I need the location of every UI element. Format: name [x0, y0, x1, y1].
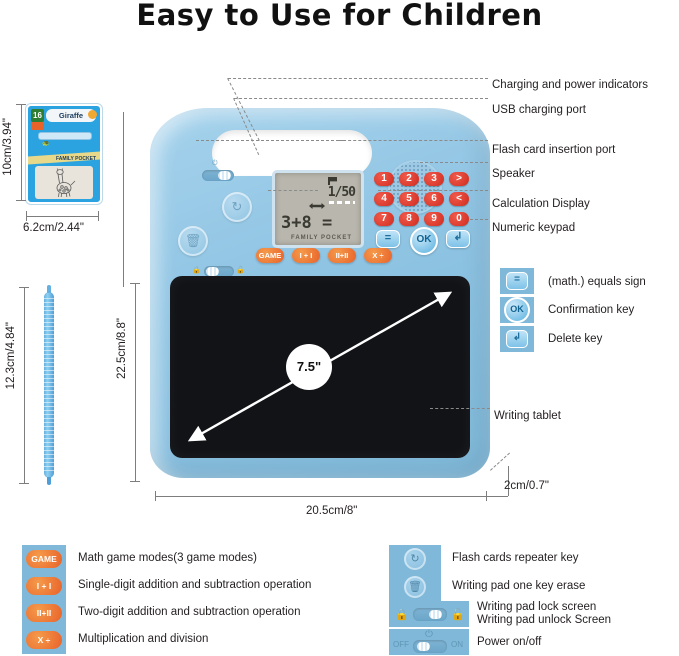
- multiply-divide-button-icon: X ÷: [26, 631, 62, 649]
- legend-ok-tile: OK: [500, 297, 534, 323]
- stylus-length-rule: [24, 287, 25, 483]
- delete-key-icon: ↲: [506, 330, 528, 348]
- power-symbol-icon: ⏻: [212, 160, 218, 168]
- power-slider-legend-knob: [417, 642, 430, 651]
- callout-leader-5b: [268, 190, 318, 191]
- callout-charging-indicators: Charging and power indicators: [492, 79, 648, 91]
- display-brand: FAMILY POCKET: [291, 235, 352, 241]
- stylus-length-label: 12.3cm/4.84": [5, 322, 17, 389]
- legend-two-digit-label: Two-digit addition and subtraction opera…: [78, 606, 300, 618]
- display-flag-icon: [328, 177, 337, 185]
- lock-open-icon: 🔓: [236, 266, 245, 274]
- display-equation: 3+8 =: [281, 213, 332, 233]
- legend-lock-label-1: Writing pad lock screen: [477, 601, 596, 614]
- callout-writing-tablet: Writing tablet: [494, 410, 561, 422]
- callout-speaker: Speaker: [492, 168, 535, 180]
- delete-key[interactable]: ↲: [446, 230, 470, 248]
- giraffe-step-1-icon: 🐢: [42, 140, 49, 147]
- legend-game-label: Math game modes(3 game modes): [78, 552, 257, 564]
- carry-handle-hole: [220, 137, 364, 169]
- flash-card-strip: [38, 132, 92, 140]
- legend-two-digit-tile: II+II: [22, 599, 66, 627]
- lock-closed-icon: 🔒: [192, 266, 201, 274]
- stylus-pen: [44, 292, 54, 478]
- legend-power-label: Power on/off: [477, 636, 541, 648]
- callout-leader-2: [234, 98, 488, 99]
- key-1[interactable]: 1: [374, 172, 394, 186]
- callout-leader-4: [420, 162, 488, 163]
- flash-card-brand: FAMILY POCKET: [56, 156, 96, 162]
- flash-card: 16 Giraffe FAMILY POCKET 🐢: [26, 104, 102, 204]
- lock-open-icon-legend: 🔓: [451, 608, 465, 621]
- device-height-tick-top: [130, 283, 140, 284]
- two-digit-button-icon: II+II: [26, 604, 62, 622]
- stylus-grip-ribs: [44, 298, 54, 472]
- callout-numeric-keypad: Numeric keypad: [492, 222, 575, 234]
- flash-card-number-underbar: [31, 122, 44, 130]
- tablet-callout-leader: [430, 408, 490, 409]
- lock-closed-icon-legend: 🔒: [395, 608, 409, 621]
- power-on-label: ON: [451, 640, 463, 649]
- flash-card-number: 16: [31, 109, 44, 122]
- display-segment-bar: [329, 201, 355, 204]
- calculation-display: 1/50 3+8 = FAMILY POCKET: [272, 170, 364, 248]
- writing-surface[interactable]: 7.5": [170, 276, 470, 458]
- card-width-tick-right: [98, 211, 99, 221]
- key-4[interactable]: 4: [374, 192, 394, 206]
- erase-key[interactable]: 🗑: [178, 226, 208, 256]
- lock-slider-legend-knob: [429, 610, 442, 619]
- device-height-tick-bottom: [130, 481, 140, 482]
- power-slider-legend: [413, 640, 447, 653]
- legend-equals-tile: =: [500, 268, 534, 294]
- writing-tablet-device: 1/50 3+8 = FAMILY POCKET 1 2 3 > 4 5 6 <…: [150, 108, 490, 478]
- key-right-arrow[interactable]: >: [449, 172, 469, 186]
- game-mode-button[interactable]: GAME: [256, 248, 284, 263]
- screen-size-badge: 7.5": [286, 344, 332, 390]
- device-height-rule: [135, 283, 136, 481]
- legend-delete-label: Delete key: [548, 333, 602, 345]
- power-off-label: OFF: [393, 640, 409, 649]
- legend-repeat-tile: ↻: [389, 545, 441, 573]
- callout-leader-3b: [196, 140, 344, 141]
- page-title: Easy to Use for Children: [0, 0, 679, 32]
- device-width-tick-left: [155, 491, 156, 501]
- card-height-label: 10cm/3.94": [2, 118, 14, 176]
- legend-lock-label-2: Writing pad unlock Screen: [477, 614, 611, 627]
- power-symbol-icon-legend: ⏻: [425, 629, 433, 640]
- legend-ok-label: Confirmation key: [548, 304, 634, 316]
- card-height-rule: [21, 104, 22, 200]
- key-9[interactable]: 9: [424, 212, 444, 226]
- lock-slider-legend: [413, 608, 447, 621]
- callout-leader-1: [228, 78, 488, 79]
- two-digit-mode-button[interactable]: II+II: [328, 248, 356, 263]
- device-height-label: 22.5cm/8.8": [116, 318, 128, 379]
- power-slider-knob[interactable]: [218, 171, 231, 180]
- card-width-label: 6.2cm/2.44": [23, 222, 84, 234]
- legend-erase-label: Writing pad one key erase: [452, 580, 585, 592]
- multiply-divide-mode-button[interactable]: X ÷: [364, 248, 392, 263]
- callout-flash-card-port: Flash card insertion port: [492, 144, 615, 156]
- single-digit-mode-button[interactable]: I + I: [292, 248, 320, 263]
- key-3[interactable]: 3: [424, 172, 444, 186]
- key-8[interactable]: 8: [399, 212, 419, 226]
- stylus-tick-bottom: [19, 483, 29, 484]
- legend-equals-label: (math.) equals sign: [548, 276, 646, 288]
- stylus-end-icon: [47, 477, 51, 485]
- device-depth-leader: [490, 453, 510, 471]
- device-height-extension: [123, 112, 124, 287]
- ok-key[interactable]: OK: [410, 227, 438, 255]
- callout-leader-3: [338, 140, 488, 141]
- device-width-label: 20.5cm/8": [306, 505, 357, 517]
- legend-lock-tile: 🔒 🔓: [389, 601, 469, 627]
- key-6[interactable]: 6: [424, 192, 444, 206]
- card-height-tick-bottom: [16, 200, 26, 201]
- legend-delete-tile: ↲: [500, 326, 534, 352]
- erase-key-icon: 🗑: [404, 576, 426, 598]
- legend-erase-tile: 🗑: [389, 573, 441, 601]
- numeric-keypad[interactable]: 1 2 3 > 4 5 6 < 7 8 9 0 = OK ↲: [374, 172, 482, 244]
- power-slider[interactable]: [202, 170, 234, 181]
- callout-leader-5: [378, 190, 488, 191]
- stylus-tick-top: [19, 287, 29, 288]
- card-height-tick-top: [16, 104, 26, 105]
- bee-icon: [88, 110, 97, 119]
- legend-single-digit-label: Single-digit addition and subtraction op…: [78, 579, 311, 591]
- legend-power-tile: ⏻ OFF ON: [389, 629, 469, 655]
- ok-key-icon: OK: [504, 297, 530, 323]
- key-5[interactable]: 5: [399, 192, 419, 206]
- callout-calculation-display: Calculation Display: [492, 198, 590, 210]
- equals-key[interactable]: =: [376, 230, 400, 248]
- callout-leader-6: [470, 219, 488, 220]
- key-left-arrow[interactable]: <: [449, 192, 469, 206]
- legend-game-tile: GAME: [22, 545, 66, 573]
- legend-multiply-divide-tile: X ÷: [22, 626, 66, 654]
- giraffe-drawing-icon: [52, 168, 78, 198]
- repeat-key[interactable]: ↻: [222, 192, 252, 222]
- key-2[interactable]: 2: [399, 172, 419, 186]
- single-digit-button-icon: I + I: [26, 577, 62, 595]
- callout-usb-port: USB charging port: [492, 104, 586, 116]
- equals-key-icon: =: [506, 272, 528, 290]
- key-0[interactable]: 0: [449, 212, 469, 226]
- repeat-key-icon: ↻: [404, 548, 426, 570]
- device-depth-rule: [486, 496, 508, 497]
- game-button-icon: GAME: [26, 550, 62, 568]
- device-depth-label: 2cm/0.7": [504, 480, 549, 492]
- card-width-tick-left: [26, 211, 27, 221]
- key-7[interactable]: 7: [374, 212, 394, 226]
- legend-single-digit-tile: I + I: [22, 572, 66, 600]
- legend-repeat-label: Flash cards repeater key: [452, 552, 579, 564]
- legend-multiply-divide-label: Multiplication and division: [78, 633, 208, 645]
- device-width-rule: [155, 496, 486, 497]
- stylus-tip-icon: [47, 285, 51, 293]
- lock-slider-knob[interactable]: [206, 267, 219, 276]
- display-counter: 1/50: [328, 185, 355, 200]
- display-arrow-icon: [309, 203, 325, 209]
- card-width-rule: [26, 216, 98, 217]
